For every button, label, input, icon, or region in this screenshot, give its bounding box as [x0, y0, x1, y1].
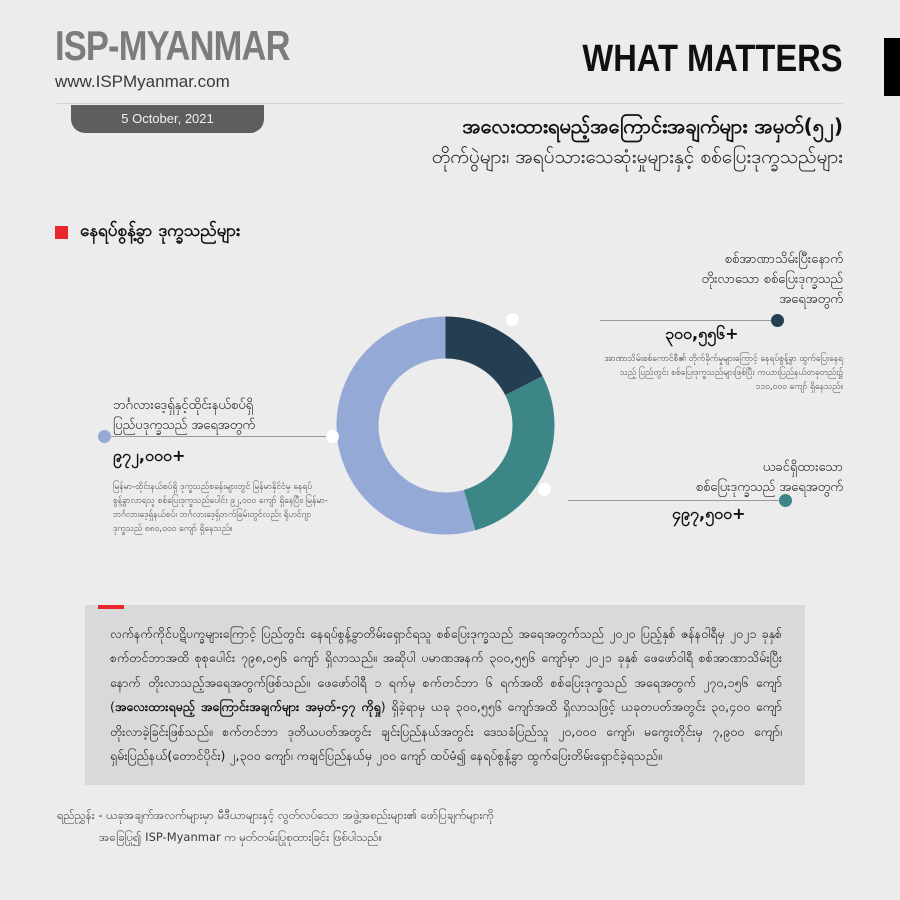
donut-marker-dot-1 [506, 313, 519, 326]
header-divider [57, 103, 843, 104]
callout-title-line: ဘင်္ဂလားဒေ့ရှ်နှင့်ထိုင်းနယ်စပ်ရှိ [113, 396, 373, 416]
callout-title-line: တိုးလာသော စစ်ပြေးဒုက္ခသည် [583, 270, 843, 290]
callout-left: ဘင်္ဂလားဒေ့ရှ်နှင့်ထိုင်းနယ်စပ်ရှိ ပြည်ပ… [113, 396, 373, 436]
callout-top-right-value-wrap: ၃၀၀,၅၅၆+ [665, 318, 815, 347]
summary-panel-text: လက်နက်ကိုင်ပဋိပက္ခများကြောင့် ပြည်တွင်း … [110, 622, 782, 768]
callout-bottom-right-title: ယခင်ရှိထားသော စစ်ပြေးဒုက္ခသည် အရေအတွက် [578, 458, 843, 498]
footnote-line-2: အခြေပြု၍ ISP-Myanmar က မှတ်တမ်းပြုစုထားခ… [57, 827, 617, 849]
footnote-line-1: ရည်ညွှန်း - ယခုအချက်အလက်များမှာ မီဒီယာမျ… [57, 808, 494, 822]
date-badge: 5 October, 2021 [71, 105, 264, 133]
brand-url[interactable]: www.ISPMyanmar.com [55, 72, 341, 92]
subtitle-primary: အလေးထားရမည့်အကြောင်းအချက်များ အမှတ်(၅၂) [462, 113, 843, 143]
subtitle-secondary: တိုက်ပွဲများ၊ အရပ်သားသေဆုံးမှုများနှင့် … [432, 145, 843, 173]
callout-left-value-wrap: ၉၇၂,၀၀၀+ [113, 440, 293, 469]
red-square-icon [55, 226, 68, 239]
callout-title-line: ယခင်ရှိထားသော [578, 458, 843, 478]
donut-marker-dot-2 [538, 483, 551, 496]
callout-top-right-body-wrap: အာဏာသိမ်းစစ်ကောင်စီ၏ တိုက်ခိုက်မှုများကြ… [591, 344, 843, 394]
callout-left-body-wrap: မြန်မာ-ထိုင်းနယ်စပ်ရှိ ဒုက္ခသည်စခန်းများ… [113, 472, 328, 536]
callout-title-line: ပြည်ပဒုက္ခသည် အရေအတွက် [113, 416, 373, 436]
section-heading: နေရပ်စွန့်ခွာ ဒုက္ခသည်များ [55, 220, 240, 245]
panel-accent-tick [98, 605, 124, 609]
series-title: WHAT MATTERS [583, 38, 843, 81]
callout-bottom-right-value: ၄၉၇,၅၀၀+ [672, 503, 832, 527]
source-footnote: ရည်ညွှန်း - ယခုအချက်အလက်များမှာ မီဒီယာမျ… [57, 805, 617, 849]
callout-top-right-body: အာဏာသိမ်းစစ်ကောင်စီ၏ တိုက်ခိုက်မှုများကြ… [591, 352, 843, 394]
section-heading-label: နေရပ်စွန့်ခွာ ဒုက္ခသည်များ [80, 220, 240, 245]
callout-title-line: စစ်ပြေးဒုက္ခသည် အရေအတွက် [578, 478, 843, 498]
brand-block: ISP-MYANMAR www.ISPMyanmar.com [55, 25, 341, 92]
callout-top-right: စစ်အာဏာသိမ်းပြီးနောက် တိုးလာသော စစ်ပြေးဒ… [583, 250, 843, 310]
callout-left-title: ဘင်္ဂလားဒေ့ရှ်နှင့်ထိုင်းနယ်စပ်ရှိ ပြည်ပ… [113, 396, 373, 436]
callout-left-body: မြန်မာ-ထိုင်းနယ်စပ်ရှိ ဒုက္ခသည်စခန်းများ… [113, 480, 328, 536]
leader-endcap-left [98, 430, 111, 443]
callout-title-line: စစ်အာဏာသိမ်းပြီးနောက် [583, 250, 843, 270]
brand-title: ISP-MYANMAR [55, 25, 290, 67]
callout-title-line: အရေအတွက် [583, 290, 843, 310]
corner-accent-block [884, 38, 900, 96]
callout-left-value: ၉၇၂,၀၀၀+ [113, 445, 293, 469]
callout-top-right-title: စစ်အာဏာသိမ်းပြီးနောက် တိုးလာသော စစ်ပြေးဒ… [583, 250, 843, 310]
infographic-page: ISP-MYANMAR www.ISPMyanmar.com WHAT MATT… [0, 0, 900, 900]
callout-bottom-right-value-wrap: ၄၉၇,၅၀၀+ [672, 498, 832, 527]
summary-bold-reference: အလေးထားရမည့် အကြောင်းအချက်များ အမှတ်-၄၇ … [115, 699, 381, 714]
callout-bottom-right: ယခင်ရှိထားသော စစ်ပြေးဒုက္ခသည် အရေအတွက် [578, 458, 843, 498]
